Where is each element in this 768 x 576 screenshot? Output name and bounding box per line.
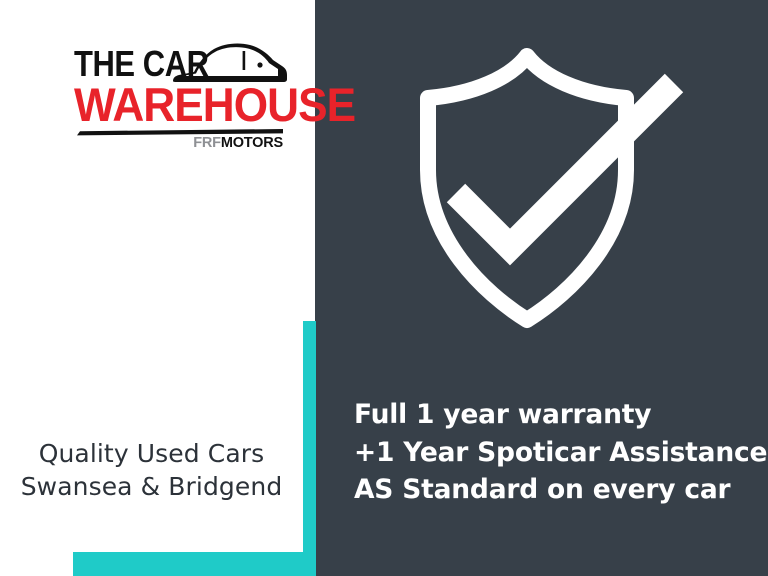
tagline-line-1: Quality Used Cars <box>0 437 303 470</box>
logo-line-warehouse: WAREHOUSE <box>74 81 355 128</box>
logo-line-the-car: THE CAR <box>74 46 209 82</box>
teal-accent-horizontal <box>73 552 316 576</box>
promo-banner: THE CAR WAREHOUSE FRFMOTORS Quality Used… <box>0 0 768 576</box>
tagline: Quality Used Cars Swansea & Bridgend <box>0 437 303 503</box>
headline: Full 1 year warranty +1 Year Spoticar As… <box>354 396 754 509</box>
teal-accent-vertical <box>303 321 316 576</box>
shield-check-icon <box>398 42 688 332</box>
headline-line-1: Full 1 year warranty <box>354 396 754 434</box>
logo-sub-frf: FRF <box>193 135 221 151</box>
tagline-line-2: Swansea & Bridgend <box>0 470 303 503</box>
headline-line-2: +1 Year Spoticar Assistance <box>354 434 754 472</box>
brand-logo[interactable]: THE CAR WAREHOUSE FRFMOTORS <box>74 38 286 156</box>
logo-sub-frf-motors: FRFMOTORS <box>74 136 283 151</box>
headline-line-3: AS Standard on every car <box>354 471 754 509</box>
logo-sub-motors: MOTORS <box>221 135 283 151</box>
